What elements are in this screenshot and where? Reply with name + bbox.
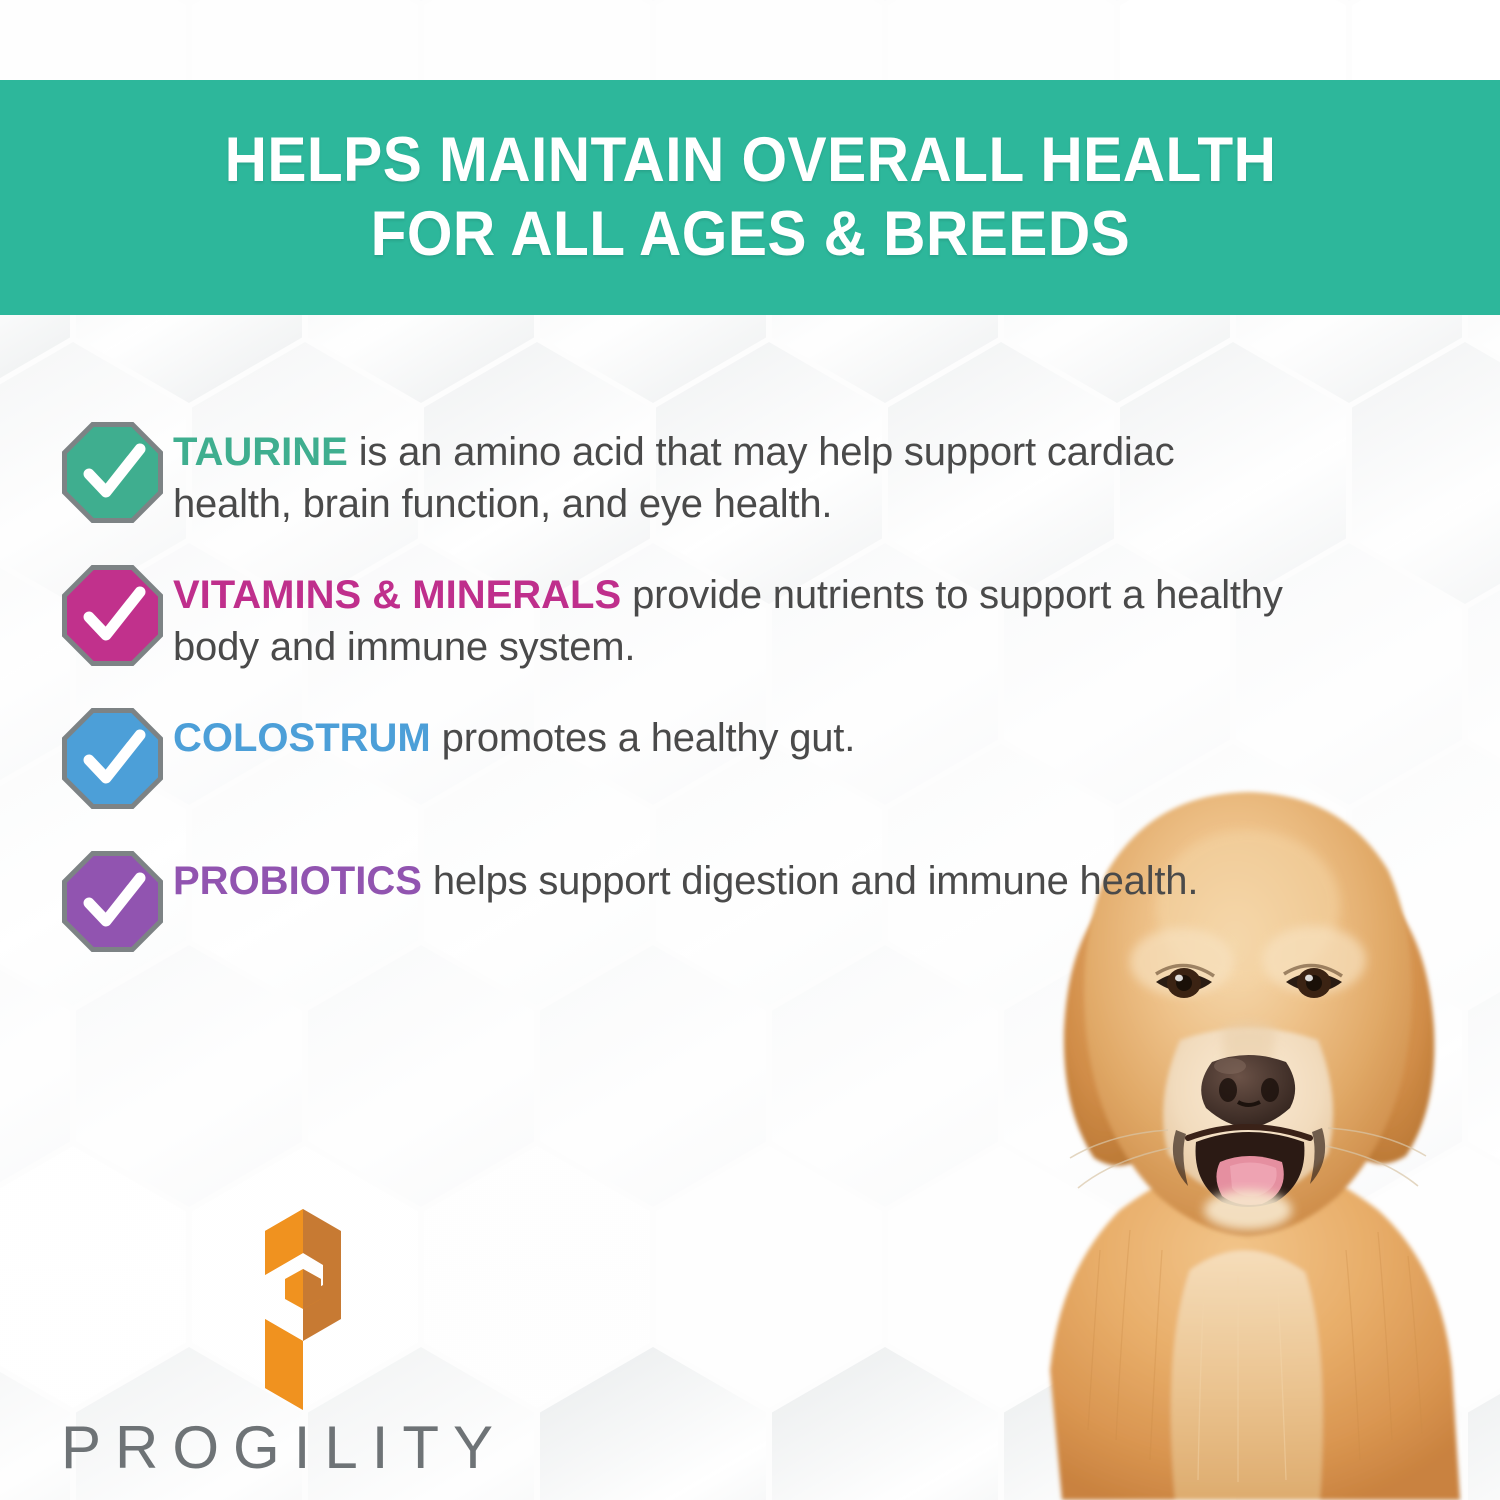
benefit-text: TAURINE is an amino acid that may help s… xyxy=(173,420,1302,530)
checkmark-glyph xyxy=(62,422,163,523)
check-octagon-icon xyxy=(62,422,163,523)
benefit-body: promotes a healthy gut. xyxy=(431,716,855,760)
headline-line-2: FOR ALL AGES & BREEDS xyxy=(370,198,1130,272)
check-octagon-icon xyxy=(62,565,163,666)
benefit-text: PROBIOTICS helps support digestion and i… xyxy=(173,849,1302,907)
progility-hexagon-p-icon xyxy=(227,1207,379,1412)
benefit-term: COLOSTRUM xyxy=(173,716,431,760)
product-feature-image: HELPS MAINTAIN OVERALL HEALTH FOR ALL AG… xyxy=(0,0,1500,1500)
benefit-term: TAURINE xyxy=(173,430,348,474)
checkmark-glyph xyxy=(62,565,163,666)
benefit-text: COLOSTRUM promotes a healthy gut. xyxy=(173,706,1302,764)
benefit-term: VITAMINS & MINERALS xyxy=(173,573,621,617)
benefit-term: PROBIOTICS xyxy=(173,859,422,903)
brand-logo: PROGILITY xyxy=(55,1207,575,1478)
benefit-item-colostrum: COLOSTRUM promotes a healthy gut. xyxy=(62,706,1302,809)
checkmark-glyph xyxy=(62,851,163,952)
benefit-text: VITAMINS & MINERALS provide nutrients to… xyxy=(173,563,1302,673)
checkmark-glyph xyxy=(62,708,163,809)
check-octagon-icon xyxy=(62,851,163,952)
brand-wordmark: PROGILITY xyxy=(55,1418,575,1478)
benefits-list: TAURINE is an amino acid that may help s… xyxy=(62,420,1302,985)
check-octagon-icon xyxy=(62,708,163,809)
benefit-item-probiotics: PROBIOTICS helps support digestion and i… xyxy=(62,849,1302,952)
headline-banner: HELPS MAINTAIN OVERALL HEALTH FOR ALL AG… xyxy=(0,80,1500,315)
headline-line-1: HELPS MAINTAIN OVERALL HEALTH xyxy=(224,124,1276,198)
benefit-body: helps support digestion and immune healt… xyxy=(422,859,1198,903)
benefit-item-vitamins-minerals: VITAMINS & MINERALS provide nutrients to… xyxy=(62,563,1302,673)
benefit-item-taurine: TAURINE is an amino acid that may help s… xyxy=(62,420,1302,530)
